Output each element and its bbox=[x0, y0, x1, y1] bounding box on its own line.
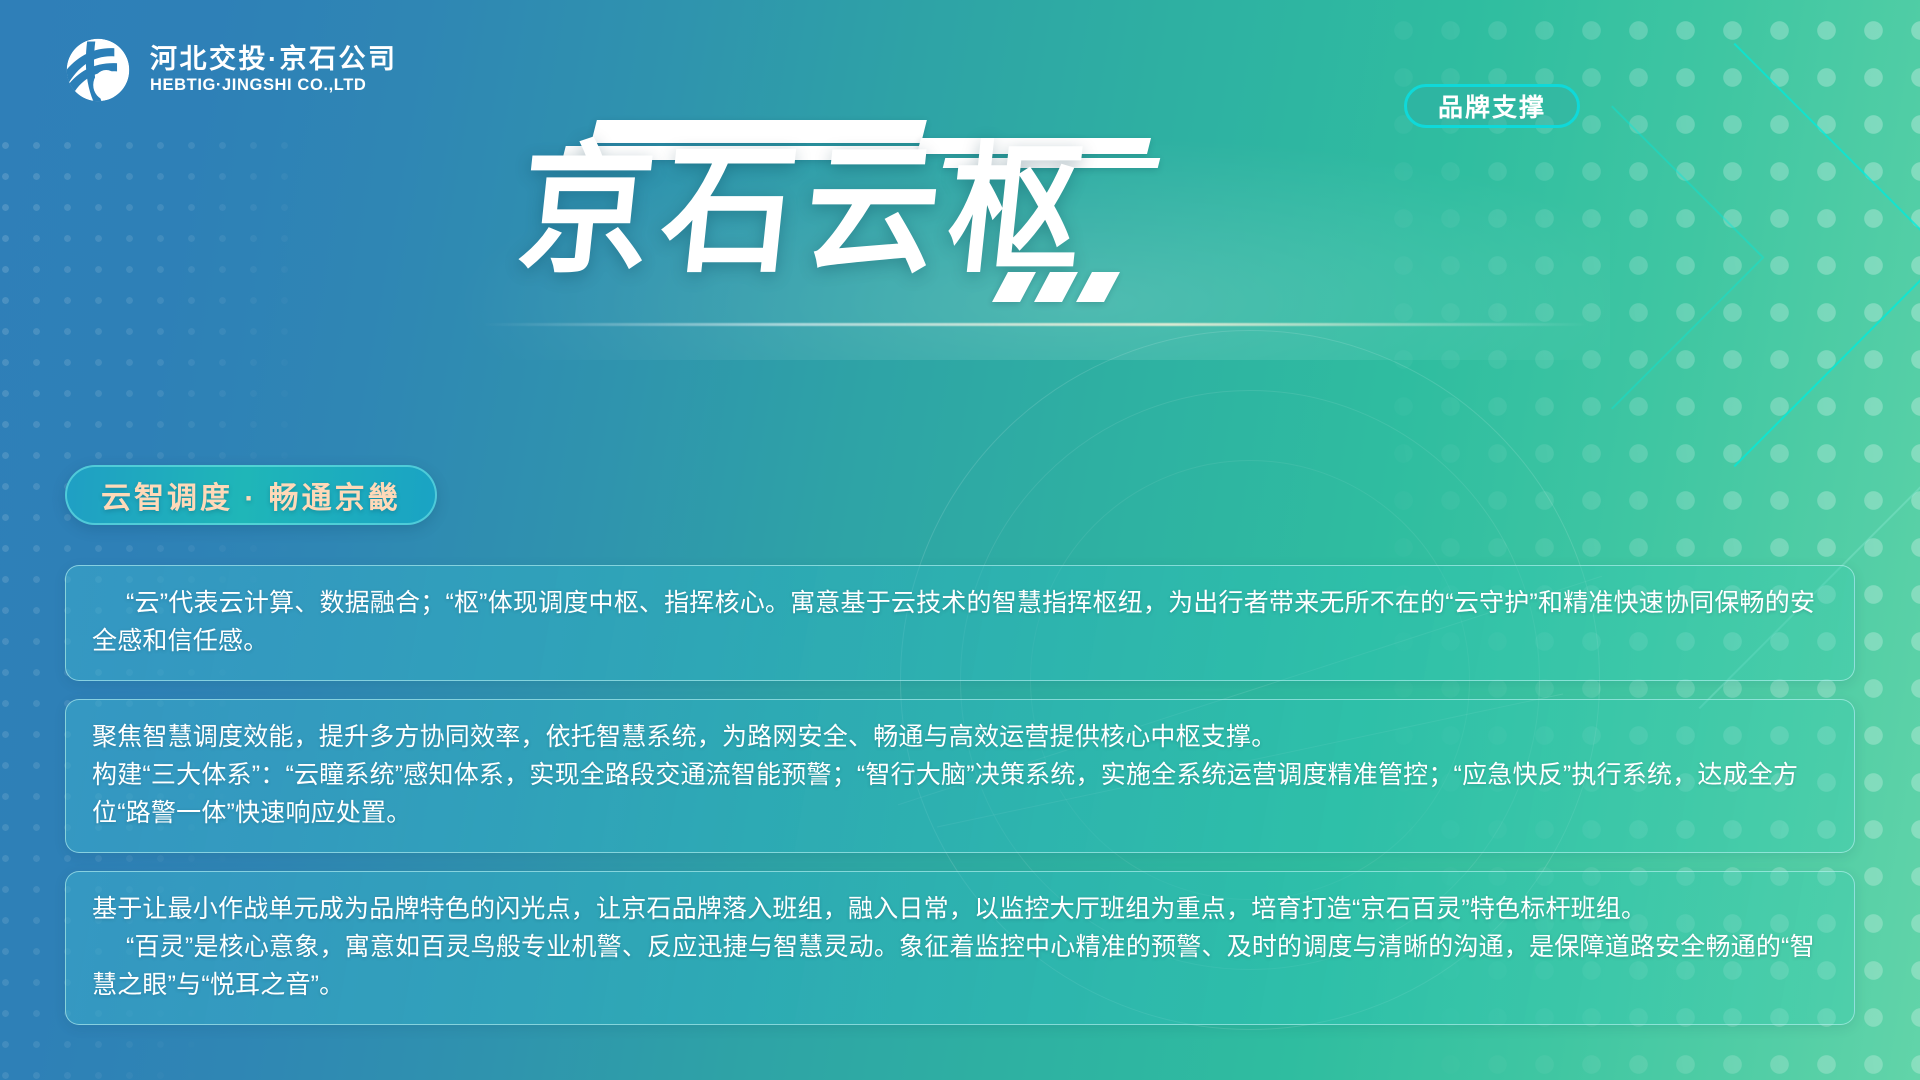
subtitle-pill: 云智调度 · 畅通京畿 bbox=[65, 465, 437, 525]
content-card-system: 聚焦智慧调度效能，提升多方协同效率，依托智慧系统，为路网安全、畅通与高效运营提供… bbox=[65, 699, 1855, 853]
subtitle-label: 云智调度 · 畅通京畿 bbox=[101, 473, 401, 517]
content-card-meaning: “云”代表云计算、数据融合；“枢”体现调度中枢、指挥核心。寓意基于云技术的智慧指… bbox=[65, 565, 1855, 681]
card-paragraph: 构建“三大体系”：“云瞳系统”感知体系，实现全路段交通流智能预警；“智行大脑”决… bbox=[92, 756, 1828, 832]
card-paragraph: 聚焦智慧调度效能，提升多方协同效率，依托智慧系统，为路网安全、畅通与高效运营提供… bbox=[92, 718, 1828, 756]
slash-mark-2 bbox=[1034, 272, 1078, 302]
slash-mark-3 bbox=[1076, 272, 1120, 302]
company-name-block: 河北交投·京石公司 HEBTIG·JINGSHI CO.,LTD bbox=[150, 45, 398, 95]
card-paragraph: 基于让最小作战单元成为品牌特色的闪光点，让京石品牌落入班组，融入日常，以监控大厅… bbox=[92, 890, 1828, 928]
card-paragraph: “百灵”是核心意象，寓意如百灵鸟般专业机警、反应迅捷与智慧灵动。象征着监控中心精… bbox=[92, 928, 1828, 1004]
page-title: 京石云枢 bbox=[513, 141, 1100, 282]
brand-banner: 河北交投·京石公司 HEBTIG·JINGSHI CO.,LTD 品牌支撑 京石… bbox=[0, 0, 1920, 1080]
company-logo-lockup: 河北交投·京石公司 HEBTIG·JINGSHI CO.,LTD bbox=[64, 36, 398, 104]
brand-support-badge[interactable]: 品牌支撑 bbox=[1404, 84, 1580, 128]
content-card-team: 基于让最小作战单元成为品牌特色的闪光点，让京石品牌落入班组，融入日常，以监控大厅… bbox=[65, 871, 1855, 1025]
company-name-cn: 河北交投·京石公司 bbox=[150, 45, 398, 74]
chevron-outline-outer bbox=[1523, 43, 1920, 467]
headline-block: 京石云枢 bbox=[520, 120, 1160, 330]
card-paragraph: “云”代表云计算、数据融合；“枢”体现调度中枢、指挥核心。寓意基于云技术的智慧指… bbox=[92, 584, 1828, 660]
brand-support-badge-label: 品牌支撑 bbox=[1438, 88, 1546, 124]
content-card-list: “云”代表云计算、数据融合；“枢”体现调度中枢、指挥核心。寓意基于云技术的智慧指… bbox=[65, 565, 1855, 1025]
hebtig-jingshi-logo-icon bbox=[64, 36, 132, 104]
company-name-en: HEBTIG·JINGSHI CO.,LTD bbox=[150, 77, 398, 95]
chevron-outline-inner bbox=[1460, 105, 1764, 409]
headline-slash-marks bbox=[1000, 272, 1160, 308]
